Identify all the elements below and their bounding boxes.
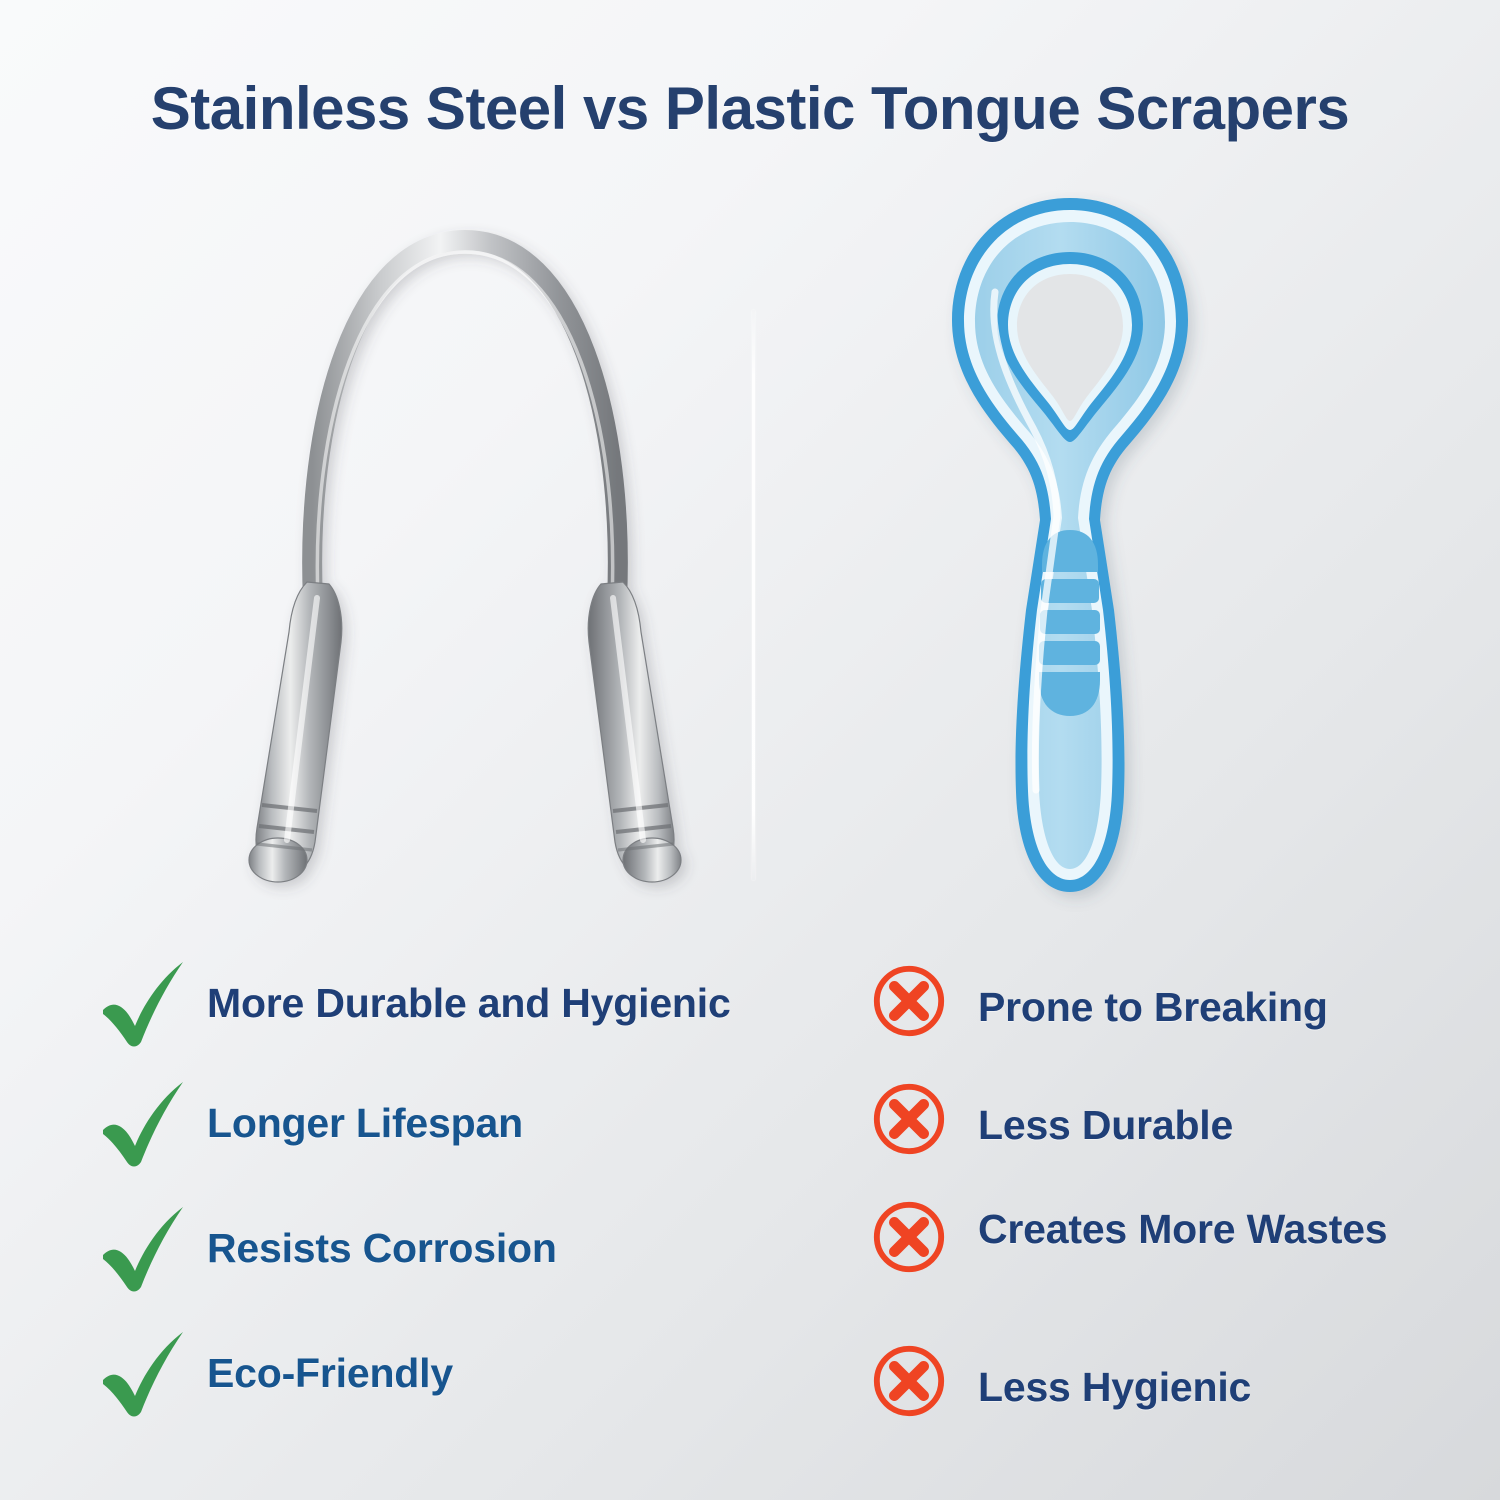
list-item-label: Prone to Breaking bbox=[978, 960, 1328, 1034]
cross-circle-icon bbox=[870, 1198, 948, 1276]
comparison-lists: More Durable and Hygienic Longer Lifespa… bbox=[0, 948, 1500, 1448]
steel-handle-left bbox=[249, 582, 342, 882]
cross-circle-icon bbox=[870, 962, 948, 1040]
cross-circle-icon bbox=[870, 1342, 948, 1420]
steel-scraper-body bbox=[249, 240, 681, 882]
plastic-scraper-illustration bbox=[900, 180, 1240, 920]
list-item-label: Resists Corrosion bbox=[207, 1201, 557, 1275]
steel-arc bbox=[312, 240, 618, 600]
check-icon bbox=[95, 1328, 191, 1424]
check-icon bbox=[95, 1078, 191, 1174]
list-item: More Durable and Hygienic bbox=[95, 956, 731, 1054]
cross-circle-icon bbox=[870, 1080, 948, 1158]
check-icon bbox=[95, 958, 191, 1054]
list-item-label: More Durable and Hygienic bbox=[207, 956, 731, 1030]
steel-handle-right bbox=[588, 582, 681, 882]
product-comparison-images bbox=[0, 170, 1500, 930]
list-item: Creates More Wastes bbox=[870, 1196, 1387, 1276]
plastic-scraper-body bbox=[952, 198, 1188, 892]
list-item-label: Longer Lifespan bbox=[207, 1076, 523, 1150]
stainless-steel-scraper-illustration bbox=[205, 180, 725, 920]
list-item-label: Less Hygienic bbox=[978, 1340, 1251, 1414]
list-item: Less Hygienic bbox=[870, 1340, 1251, 1420]
list-item-label: Eco-Friendly bbox=[207, 1326, 453, 1400]
check-icon bbox=[95, 1203, 191, 1299]
list-item: Eco-Friendly bbox=[95, 1326, 453, 1424]
list-item: Resists Corrosion bbox=[95, 1201, 557, 1299]
vertical-divider bbox=[752, 310, 755, 880]
infographic-canvas: Stainless Steel vs Plastic Tongue Scrape… bbox=[0, 0, 1500, 1500]
list-item: Less Durable bbox=[870, 1078, 1233, 1158]
page-title: Stainless Steel vs Plastic Tongue Scrape… bbox=[0, 74, 1500, 143]
list-item-label: Creates More Wastes bbox=[978, 1196, 1387, 1256]
list-item: Prone to Breaking bbox=[870, 960, 1328, 1040]
list-item-label: Less Durable bbox=[978, 1078, 1233, 1152]
list-item: Longer Lifespan bbox=[95, 1076, 523, 1174]
